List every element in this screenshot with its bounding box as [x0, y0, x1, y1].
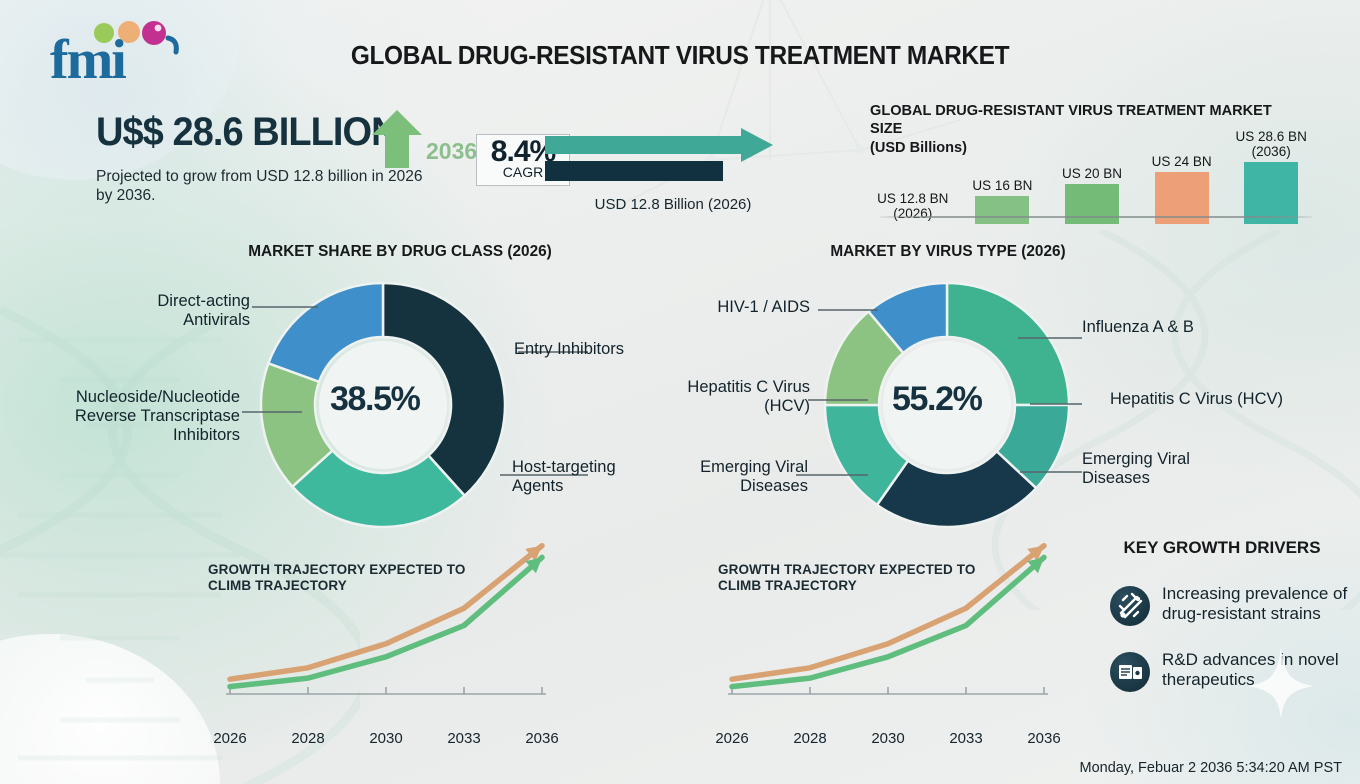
page-title: GLOBAL DRUG-RESISTANT VIRUS TREATMENT MA…: [323, 40, 1037, 71]
growth-axis-tick-label: 2030: [871, 730, 904, 747]
growth-trajectory-right-chart[interactable]: [722, 536, 1062, 726]
growth-axis-tick-label: 2028: [793, 730, 826, 747]
cagr-lower-bar: [545, 161, 723, 181]
market-size-bar: [975, 196, 1029, 224]
market-size-title-line1: GLOBAL DRUG-RESISTANT VIRUS TREATMENT MA…: [870, 102, 1272, 137]
logo-dot-magenta: [142, 21, 166, 45]
market-size-axis-line: [880, 216, 1312, 218]
hero-subtitle: Projected to grow from USD 12.8 billion …: [96, 168, 426, 206]
up-arrow-icon: [370, 108, 424, 170]
growth-trajectory-line: [230, 557, 542, 686]
market-size-bar-label: US 20 BN: [1047, 167, 1137, 182]
drug-class-label-nrti: Nucleoside/Nucleotide Reverse Transcript…: [40, 388, 240, 444]
drug-class-center-value: 38.5%: [330, 380, 419, 419]
virus-type-chart-title: MARKET BY VIRUS TYPE (2026): [794, 243, 1101, 261]
market-size-bar-chart: US 12.8 BN(2026)US 16 BNUS 20 BNUS 24 BN…: [868, 148, 1316, 224]
growth-axis-tick-label: 2033: [447, 730, 480, 747]
market-size-bar-label: US 28.6 BN(2036): [1226, 130, 1316, 160]
hero-market-value: U$$ 28.6 BILLION: [96, 110, 398, 155]
virus-type-label-influenza: Influenza A & B: [1082, 318, 1282, 337]
drug-class-label-direct-acting-antivirals: Direct-acting Antivirals: [110, 292, 250, 330]
growth-axis-tick-label: 2030: [369, 730, 402, 747]
growth-axis-tick-label: 2026: [715, 730, 748, 747]
growth-axis-tick-label: 2036: [525, 730, 558, 747]
drug-class-label-entry-inhibitors: Entry Inhibitors: [514, 340, 684, 359]
virus-type-label-emerging-viral-right: Emerging Viral Diseases: [1082, 450, 1242, 488]
cagr-arrow-bars: [545, 128, 775, 193]
virus-type-center-value: 55.2%: [892, 380, 981, 419]
logo-wordmark: fmi: [50, 29, 126, 86]
virus-type-label-hiv-aids: HIV-1 / AIDS: [690, 298, 810, 317]
growth-axis-tick-label: 2026: [213, 730, 246, 747]
virus-type-label-emerging-viral-left: Emerging Viral Diseases: [678, 458, 808, 496]
virus-bacteria-icon: [1110, 586, 1150, 626]
background-corner-glow-bottomleft: [0, 634, 220, 784]
market-size-bar: [1065, 184, 1119, 224]
market-size-bar-label: US 24 BN: [1137, 155, 1227, 170]
cagr-base-caption: USD 12.8 Billion (2026): [563, 196, 783, 213]
growth-axis-tick-label: 2036: [1027, 730, 1060, 747]
growth-driver-text-1: Increasing prevalence of drug-resistant …: [1162, 584, 1360, 623]
hero-target-year: 2036: [426, 138, 477, 165]
market-size-bar: [1244, 162, 1298, 224]
market-size-bar-column: US 28.6 BN(2036): [1226, 130, 1316, 224]
key-growth-drivers-title: KEY GROWTH DRIVERS: [1122, 538, 1322, 558]
growth-trajectory-left-chart[interactable]: [220, 536, 560, 726]
drug-class-chart-title: MARKET SHARE BY DRUG CLASS (2026): [246, 243, 553, 261]
sparkle-decoration: [1246, 642, 1316, 722]
market-size-bar-label: US 16 BN: [958, 179, 1048, 194]
drug-class-label-host-targeting-agents: Host-targeting Agents: [512, 458, 662, 496]
growth-axis-tick-label: 2028: [291, 730, 324, 747]
virus-type-label-hepatitis-c-right: Hepatitis C Virus (HCV): [1110, 390, 1330, 409]
market-size-bar-column: US 12.8 BN(2026): [868, 192, 958, 224]
growth-trajectory-line: [732, 557, 1044, 686]
fmi-logo[interactable]: fmi: [44, 16, 184, 86]
cagr-upper-arrow: [545, 128, 773, 162]
growth-axis-tick-label: 2033: [949, 730, 982, 747]
footer-timestamp: Monday, Febuar 2 2036 5:34:20 AM PST: [1079, 760, 1342, 776]
lab-research-icon: [1110, 652, 1150, 692]
virus-type-label-hepatitis-c-left: Hepatitis C Virus (HCV): [680, 378, 810, 416]
infographic-canvas: fmi GLOBAL DRUG-RESISTANT VIRUS TREATMEN…: [0, 0, 1360, 784]
growth-left-axis-labels: 20262028203020332036: [220, 730, 560, 752]
market-size-bar-column: US 24 BN: [1137, 155, 1227, 224]
growth-right-axis-labels: 20262028203020332036: [722, 730, 1062, 752]
